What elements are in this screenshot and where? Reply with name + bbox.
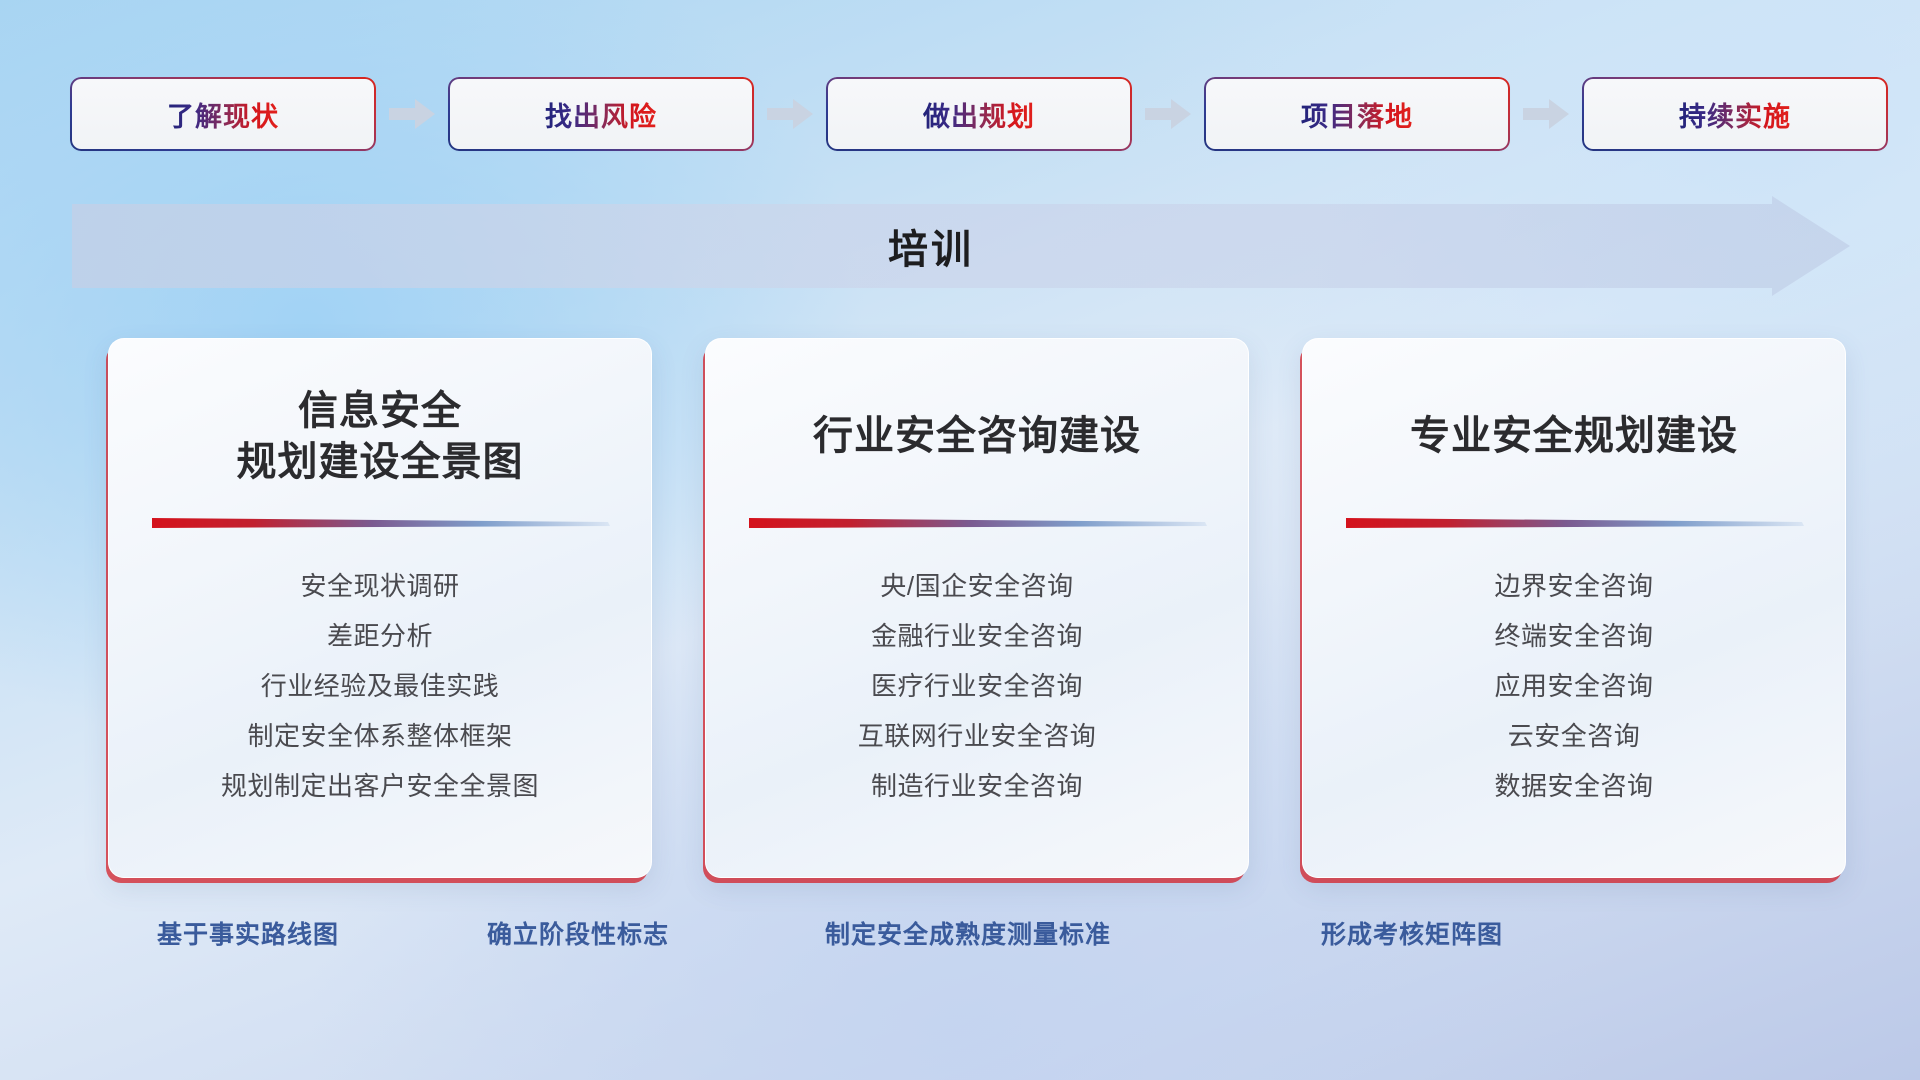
card-title: 行业安全咨询建设 bbox=[813, 385, 1141, 489]
card-title: 信息安全 规划建设全景图 bbox=[237, 385, 524, 489]
step-pill-4[interactable]: 项目落地 bbox=[1206, 79, 1508, 149]
step-pill-label: 找出风险 bbox=[545, 95, 657, 134]
list-item[interactable]: 互联网行业安全咨询 bbox=[736, 711, 1218, 761]
gradient-rule-icon bbox=[747, 515, 1207, 531]
step-pill-5[interactable]: 持续实施 bbox=[1584, 79, 1886, 149]
step-pill-label: 项目落地 bbox=[1301, 95, 1413, 134]
list-item[interactable]: 数据安全咨询 bbox=[1333, 761, 1815, 811]
slide-canvas: 了解现状找出风险做出规划项目落地持续实施 培训 信息安全 规划建设全景图安全现状… bbox=[0, 0, 1920, 1080]
list-item[interactable]: 应用安全咨询 bbox=[1333, 661, 1815, 711]
list-item[interactable]: 制造行业安全咨询 bbox=[736, 761, 1218, 811]
list-item[interactable]: 差距分析 bbox=[139, 611, 621, 661]
list-item[interactable]: 金融行业安全咨询 bbox=[736, 611, 1218, 661]
list-item[interactable]: 云安全咨询 bbox=[1333, 711, 1815, 761]
list-item[interactable]: 医疗行业安全咨询 bbox=[736, 661, 1218, 711]
banner-label: 培训 bbox=[72, 196, 1790, 296]
training-banner: 培训 bbox=[72, 196, 1850, 296]
step-pill-label: 持续实施 bbox=[1679, 95, 1791, 134]
arrow-right-icon bbox=[382, 97, 442, 131]
step-pill-1[interactable]: 了解现状 bbox=[72, 79, 374, 149]
card-row: 信息安全 规划建设全景图安全现状调研差距分析行业经验及最佳实践制定安全体系整体框… bbox=[108, 338, 1848, 878]
list-item[interactable]: 制定安全体系整体框架 bbox=[139, 711, 621, 761]
info-card-2[interactable]: 行业安全咨询建设央/国企安全咨询金融行业安全咨询医疗行业安全咨询互联网行业安全咨… bbox=[705, 338, 1249, 878]
card-item-list: 安全现状调研差距分析行业经验及最佳实践制定安全体系整体框架规划制定出客户安全全景… bbox=[139, 561, 621, 811]
gradient-rule-icon bbox=[150, 515, 610, 531]
list-item[interactable]: 终端安全咨询 bbox=[1333, 611, 1815, 661]
info-card-3[interactable]: 专业安全规划建设边界安全咨询终端安全咨询应用安全咨询云安全咨询数据安全咨询 bbox=[1302, 338, 1846, 878]
list-item[interactable]: 安全现状调研 bbox=[139, 561, 621, 611]
footnote-label-4: 形成考核矩阵图 bbox=[1321, 915, 1503, 951]
step-pill-label: 了解现状 bbox=[167, 95, 279, 134]
list-item[interactable]: 规划制定出客户安全全景图 bbox=[139, 761, 621, 811]
list-item[interactable]: 边界安全咨询 bbox=[1333, 561, 1815, 611]
gradient-rule-icon bbox=[1344, 515, 1804, 531]
step-pill-2[interactable]: 找出风险 bbox=[450, 79, 752, 149]
info-card-1[interactable]: 信息安全 规划建设全景图安全现状调研差距分析行业经验及最佳实践制定安全体系整体框… bbox=[108, 338, 652, 878]
card-item-list: 边界安全咨询终端安全咨询应用安全咨询云安全咨询数据安全咨询 bbox=[1333, 561, 1815, 811]
arrow-right-icon bbox=[760, 97, 820, 131]
list-item[interactable]: 行业经验及最佳实践 bbox=[139, 661, 621, 711]
card-title: 专业安全规划建设 bbox=[1410, 385, 1738, 489]
step-pill-label: 做出规划 bbox=[923, 95, 1035, 134]
footnote-row: 基于事实路线图确立阶段性标志制定安全成熟度测量标准形成考核矩阵图 bbox=[0, 915, 1920, 959]
arrow-right-icon bbox=[1516, 97, 1576, 131]
footnote-label-3: 制定安全成熟度测量标准 bbox=[825, 915, 1111, 951]
list-item[interactable]: 央/国企安全咨询 bbox=[736, 561, 1218, 611]
arrow-right-icon bbox=[1138, 97, 1198, 131]
footnote-label-2: 确立阶段性标志 bbox=[487, 915, 669, 951]
process-step-row: 了解现状找出风险做出规划项目落地持续实施 bbox=[72, 78, 1848, 150]
card-item-list: 央/国企安全咨询金融行业安全咨询医疗行业安全咨询互联网行业安全咨询制造行业安全咨… bbox=[736, 561, 1218, 811]
step-pill-3[interactable]: 做出规划 bbox=[828, 79, 1130, 149]
footnote-label-1: 基于事实路线图 bbox=[157, 915, 339, 951]
